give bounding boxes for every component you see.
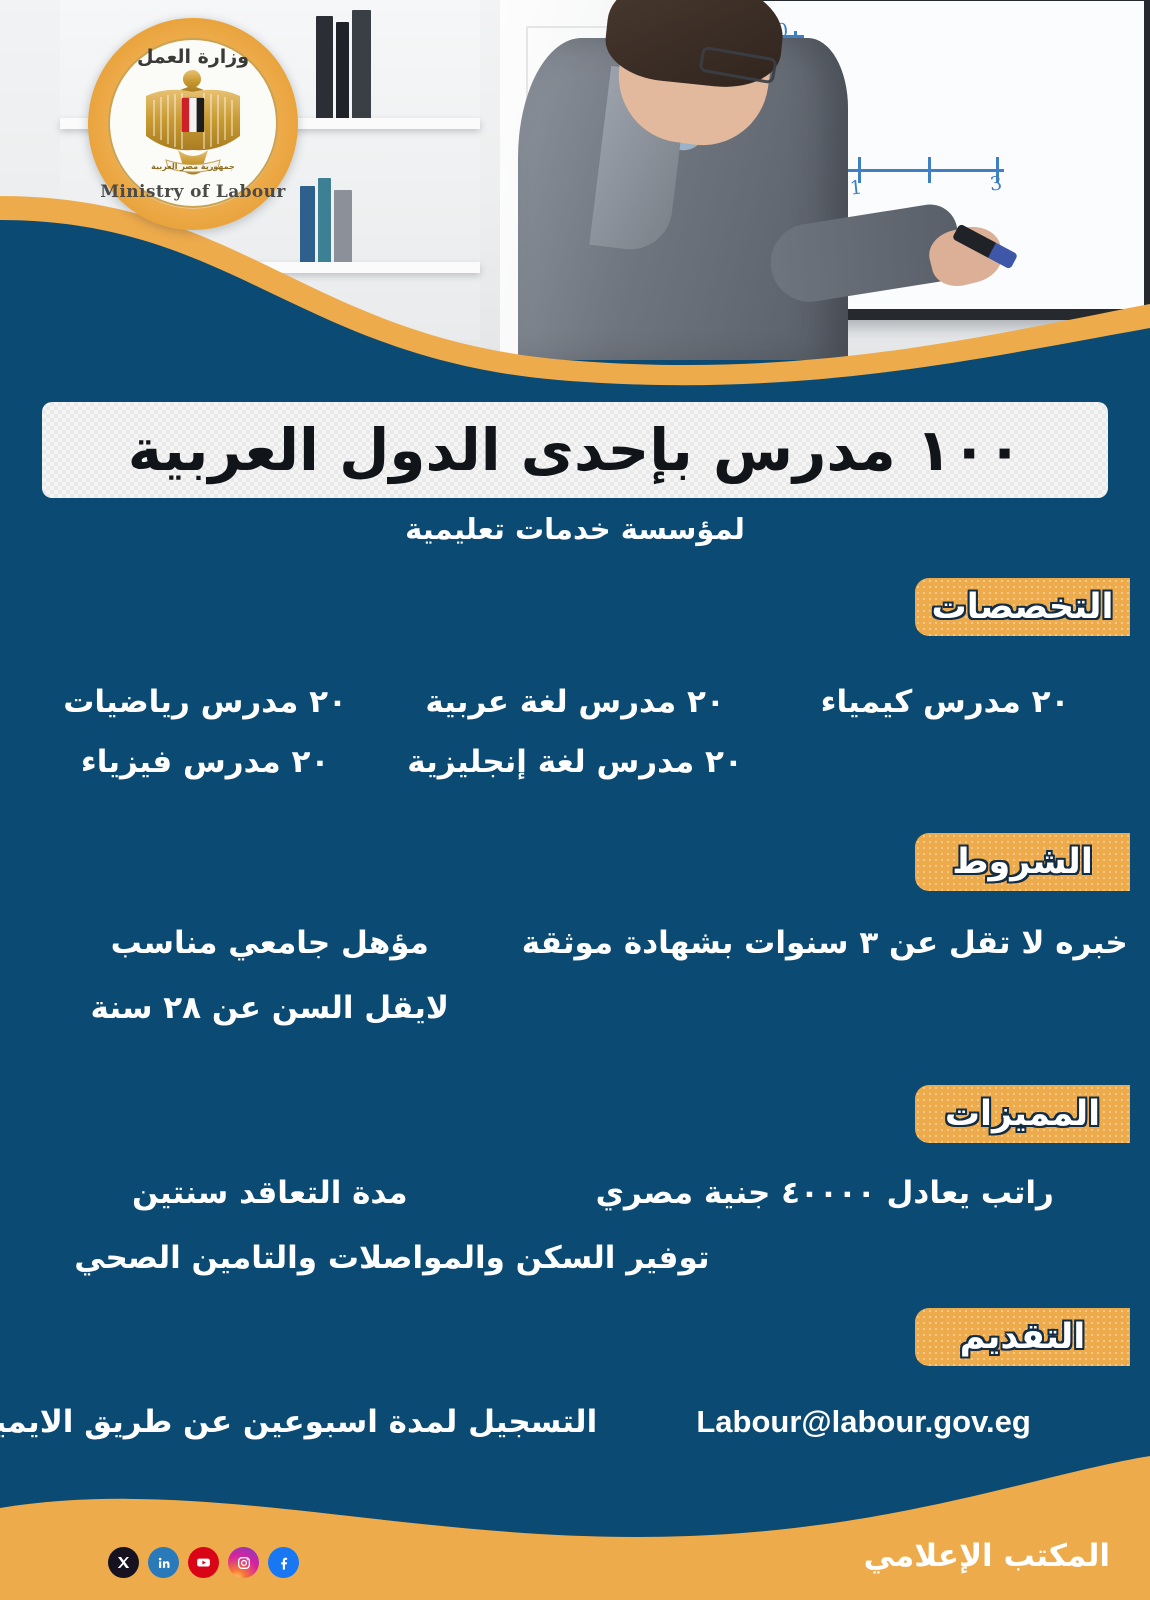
specialization-arabic: ٢٠ مدرس لغة عربية <box>390 684 760 720</box>
instagram-icon[interactable] <box>228 1547 259 1578</box>
specialization-math: ٢٠ مدرس رياضيات <box>20 684 390 720</box>
specializations-row-1: ٢٠ مدرس كيمياء ٢٠ مدرس لغة عربية ٢٠ مدرس… <box>20 684 1130 720</box>
poster: 100 50 1 3 ١٠٠ مدرس بإحدى الدول العربية … <box>0 0 1150 1600</box>
book-dark <box>336 22 349 118</box>
conditions-row-2: لايقل السن عن ٢٨ سنة <box>20 990 1130 1026</box>
footer-media-office-label: المكتب الإعلامي <box>864 1538 1110 1574</box>
section-badge-benefits: المميزات <box>915 1085 1130 1143</box>
social-links <box>108 1547 299 1578</box>
section-badge-conditions: الشروط <box>915 833 1130 891</box>
benefit-housing-transport-insurance: توفير السكن والمواصلات والتامين الصحي <box>20 1240 764 1276</box>
x-twitter-icon[interactable] <box>108 1547 139 1578</box>
section-badge-label: التقديم <box>960 1317 1085 1357</box>
section-badge-label: المميزات <box>945 1094 1100 1134</box>
application-email[interactable]: Labour@labour.gov.eg <box>597 1404 1130 1440</box>
linkedin-icon[interactable] <box>148 1547 179 1578</box>
seal-arabic-top-text: وزارة العمل <box>88 46 298 68</box>
seal-english-text: Ministry of Labour <box>88 182 298 202</box>
application-instructions: التسجيل لمدة اسبوعين عن طريق الايميل <box>20 1404 597 1440</box>
page-title: ١٠٠ مدرس بإحدى الدول العربية <box>128 416 1022 484</box>
specialization-physics: ٢٠ مدرس فيزياء <box>20 744 390 780</box>
conditions-row-1: خبره لا تقل عن ٣ سنوات بشهادة موثقة مؤهل… <box>20 925 1130 961</box>
section-badge-specializations: التخصصات <box>915 578 1130 636</box>
section-badge-application: التقديم <box>915 1308 1130 1366</box>
benefits-row-1: راتب يعادل ٤٠٠٠٠ جنية مصري مدة التعاقد س… <box>20 1175 1130 1211</box>
specialization-chemistry: ٢٠ مدرس كيمياء <box>760 684 1130 720</box>
graph-tick <box>928 157 931 183</box>
specialization-english: ٢٠ مدرس لغة إنجليزية <box>390 744 760 780</box>
condition-experience: خبره لا تقل عن ٣ سنوات بشهادة موثقة <box>520 925 1131 961</box>
youtube-icon[interactable] <box>188 1547 219 1578</box>
benefit-salary: راتب يعادل ٤٠٠٠٠ جنية مصري <box>520 1175 1131 1211</box>
benefit-contract-duration: مدة التعاقد سنتين <box>20 1175 520 1211</box>
condition-degree: مؤهل جامعي مناسب <box>20 925 520 961</box>
facebook-icon[interactable] <box>268 1547 299 1578</box>
ministry-logo: وزارة العمل <box>88 18 298 230</box>
book-dark <box>316 16 333 118</box>
section-badge-label: التخصصات <box>932 587 1114 627</box>
graph-label-3: 3 <box>989 172 1003 195</box>
condition-age: لايقل السن عن ٢٨ سنة <box>20 990 520 1026</box>
seal-arabic-bottom-text: جمهورية مصر العربية <box>88 162 298 171</box>
application-row: Labour@labour.gov.eg التسجيل لمدة اسبوعي… <box>20 1404 1130 1440</box>
subtitle: لمؤسسة خدمات تعليمية <box>0 512 1150 546</box>
book-dark <box>352 10 371 118</box>
title-banner: ١٠٠ مدرس بإحدى الدول العربية <box>42 402 1108 498</box>
section-badge-label: الشروط <box>952 842 1093 882</box>
specializations-row-2: ٢٠ مدرس لغة إنجليزية ٢٠ مدرس فيزياء <box>20 744 1130 780</box>
benefits-row-2: توفير السكن والمواصلات والتامين الصحي <box>20 1240 1130 1276</box>
